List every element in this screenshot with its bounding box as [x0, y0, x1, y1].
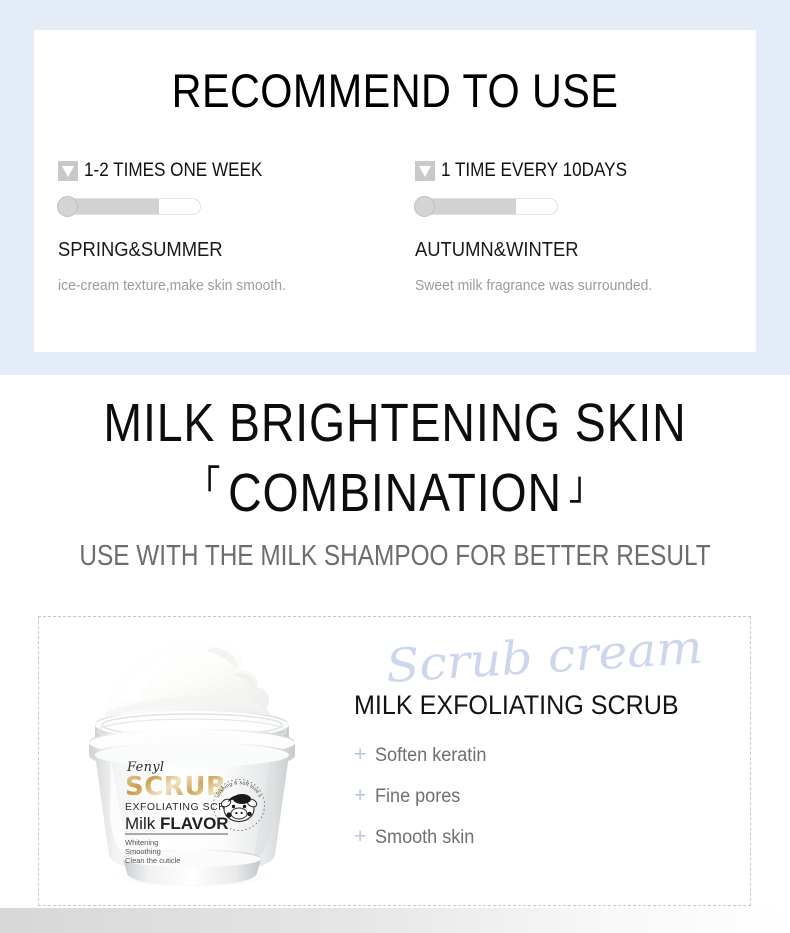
usage-frequency-slider[interactable] [415, 198, 558, 215]
list-item: + Fine pores [354, 784, 744, 809]
product-marketing-page: RECOMMEND TO USE 1-2 TIMES ONE WEEK SPRI… [0, 0, 790, 933]
headline-keyword: COMBINATION [228, 463, 562, 523]
bracket-open: 「 [179, 464, 228, 508]
season-description: Sweet milk fragrance was surrounded. [415, 276, 732, 295]
product-text-block: Scrub cream MILK EXFOLIATING SCRUB + Sof… [354, 645, 744, 866]
frequency-label: 1 TIME EVERY 10DAYS [441, 160, 627, 182]
headline-block: MILK BRIGHTENING SKIN 「COMBINATION」 USE … [0, 392, 790, 573]
plus-icon: + [354, 784, 366, 808]
svg-text:Smoothing: Smoothing [125, 847, 161, 856]
usage-column-spring-summer: 1-2 TIMES ONE WEEK SPRING&SUMMER ice-cre… [34, 158, 395, 295]
headline-line-1: MILK BRIGHTENING SKIN [55, 392, 734, 454]
frequency-label: 1-2 TIMES ONE WEEK [84, 160, 262, 182]
benefit-label: Soften keratin [375, 744, 486, 768]
usage-frequency-slider[interactable] [58, 198, 201, 215]
usage-columns: 1-2 TIMES ONE WEEK SPRING&SUMMER ice-cre… [34, 158, 756, 295]
svg-text:Milk FLAVOR: Milk FLAVOR [125, 814, 229, 833]
slider-knob[interactable] [57, 196, 78, 217]
svg-text:SCRUB: SCRUB [125, 772, 226, 802]
scrub-cream-watermark: Scrub cream [384, 622, 703, 691]
benefit-list: + Soften keratin + Fine pores + Smooth s… [354, 743, 744, 850]
slider-knob[interactable] [414, 196, 435, 217]
frequency-row: 1-2 TIMES ONE WEEK [58, 158, 395, 184]
benefit-label: Smooth skin [375, 826, 474, 850]
product-title: MILK EXFOLIATING SCRUB [354, 689, 717, 721]
headline-subtitle: USE WITH THE MILK SHAMPOO FOR BETTER RES… [63, 539, 727, 573]
bracket-close: 」 [562, 464, 611, 508]
season-label: AUTUMN&WINTER [415, 238, 729, 262]
recommend-card: RECOMMEND TO USE 1-2 TIMES ONE WEEK SPRI… [34, 30, 756, 352]
svg-text:Clean the cuticle: Clean the cuticle [125, 856, 180, 865]
scrub-jar-illustration: Fenyl SCRUB EXFOLIATING SCRUB Milk FLAVO… [61, 627, 321, 895]
triangle-down-icon [415, 161, 435, 181]
product-image: Fenyl SCRUB EXFOLIATING SCRUB Milk FLAVO… [61, 627, 321, 895]
bottom-gradient-strip [0, 908, 790, 933]
season-label: SPRING&SUMMER [58, 238, 368, 262]
frequency-row: 1 TIME EVERY 10DAYS [415, 158, 756, 184]
list-item: + Smooth skin [354, 825, 744, 850]
plus-icon: + [354, 743, 366, 767]
list-item: + Soften keratin [354, 743, 744, 768]
product-card: Fenyl SCRUB EXFOLIATING SCRUB Milk FLAVO… [38, 616, 751, 906]
page-title: RECOMMEND TO USE [77, 64, 712, 117]
svg-text:Whitening: Whitening [125, 838, 158, 847]
triangle-down-icon [58, 161, 78, 181]
plus-icon: + [354, 825, 366, 849]
season-description: ice-cream texture,make skin smooth. [58, 276, 371, 295]
usage-column-autumn-winter: 1 TIME EVERY 10DAYS AUTUMN&WINTER Sweet … [395, 158, 756, 295]
headline-line-2: 「COMBINATION」 [55, 454, 734, 525]
benefit-label: Fine pores [375, 785, 460, 809]
